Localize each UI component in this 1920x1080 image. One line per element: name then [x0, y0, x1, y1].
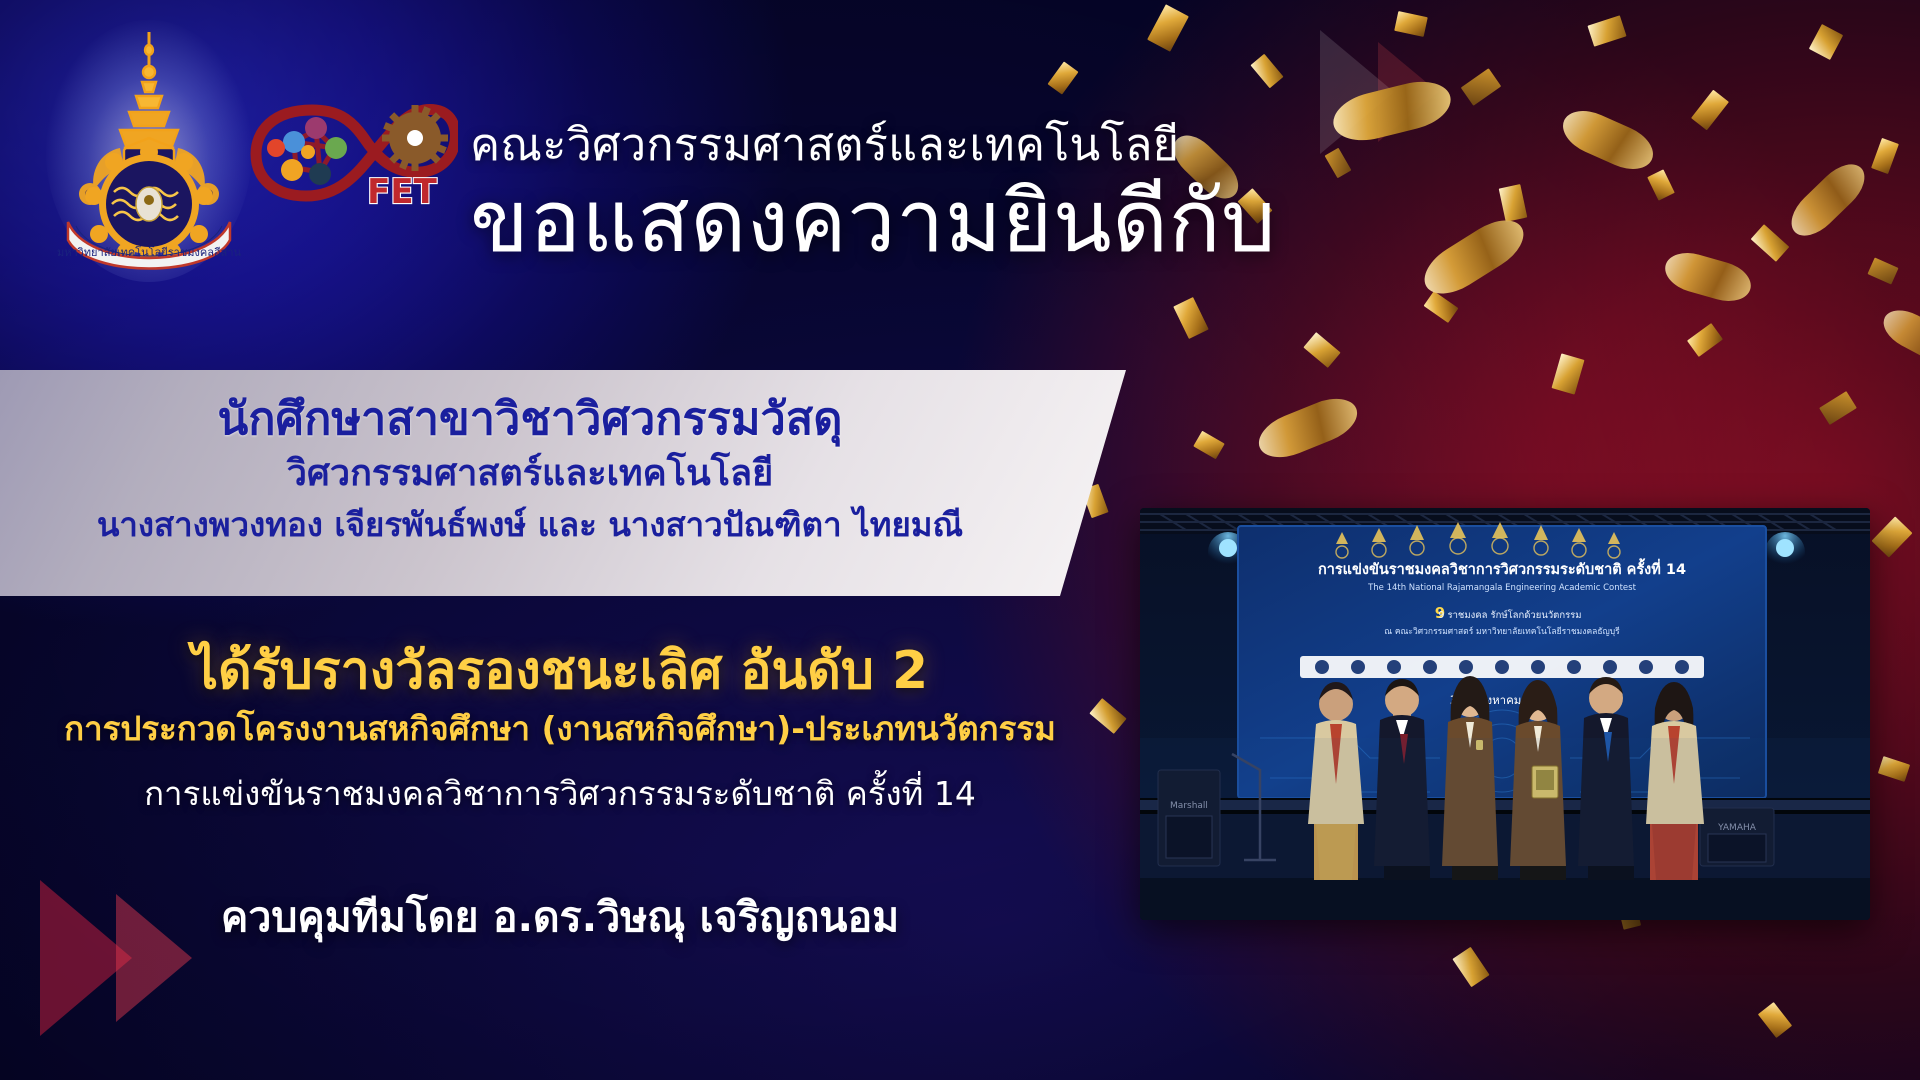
rmuti-ring-text: มหาวิทยาลัยเทคโนโลยีราชมงคลอีสาน	[57, 245, 242, 259]
program-name: นักศึกษาสาขาวิชาวิศวกรรมวัสดุ	[0, 392, 1060, 447]
award-ceremony-photo: การแข่งขันราชมงคลวิชาการวิศวกรรมระดับชาต…	[1140, 508, 1870, 920]
student-names: นางสางพวงทอง เจียรพันธ์พงษ์ และ นางสาวปั…	[0, 504, 1060, 547]
stage-banner-title-en: The 14th National Rajamangala Engineerin…	[1367, 583, 1637, 593]
student-info-panel: นักศึกษาสาขาวิชาวิศวกรรมวัสดุ วิศวกรรมศา…	[0, 370, 1126, 596]
stage-banner-line3: 9 ราชมงคล รักษ์โลกด้วยนวัตกรรม	[1438, 609, 1581, 621]
fet-wordmark: FET	[367, 172, 437, 212]
header-block: คณะวิศวกรรมศาสตร์และเทคโนโลยี ขอแสดงความ…	[470, 120, 1470, 273]
award-block: ได้รับรางวัลรองชนะเลิศ อันดับ 2 การประกว…	[0, 640, 1120, 816]
banner-canvas: มหาวิทยาลัยเทคโนโลยีราชมงคลอีสาน	[0, 0, 1920, 1080]
advisor-line: ควบคุมทีมโดย อ.ดร.วิษณุ เจริญถนอม	[0, 885, 1120, 950]
award-title: ได้รับรางวัลรองชนะเลิศ อันดับ 2	[0, 640, 1120, 702]
logo-row: มหาวิทยาลัยเทคโนโลยีราชมงคลอีสาน	[32, 18, 452, 288]
rmuti-emblem-icon: มหาวิทยาลัยเทคโนโลยีราชมงคลอีสาน	[54, 26, 244, 276]
award-event: การแข่งขันราชมงคลวิชาการวิศวกรรมระดับชาต…	[0, 773, 1120, 816]
fet-logo-icon: FET	[250, 76, 458, 226]
stage-banner-line4: ณ คณะวิศวกรรมศาสตร์ มหาวิทยาลัยเทคโนโลยี…	[1384, 626, 1620, 637]
award-category: การประกวดโครงงานสหกิจศึกษา (งานสหกิจศึกษ…	[0, 708, 1120, 751]
faculty-name: วิศวกรรมศาสตร์และเทคโนโลยี	[0, 451, 1060, 498]
faculty-headline: คณะวิศวกรรมศาสตร์และเทคโนโลยี	[470, 120, 1470, 170]
congratulations-headline: ขอแสดงความยินดีกับ	[470, 172, 1470, 273]
